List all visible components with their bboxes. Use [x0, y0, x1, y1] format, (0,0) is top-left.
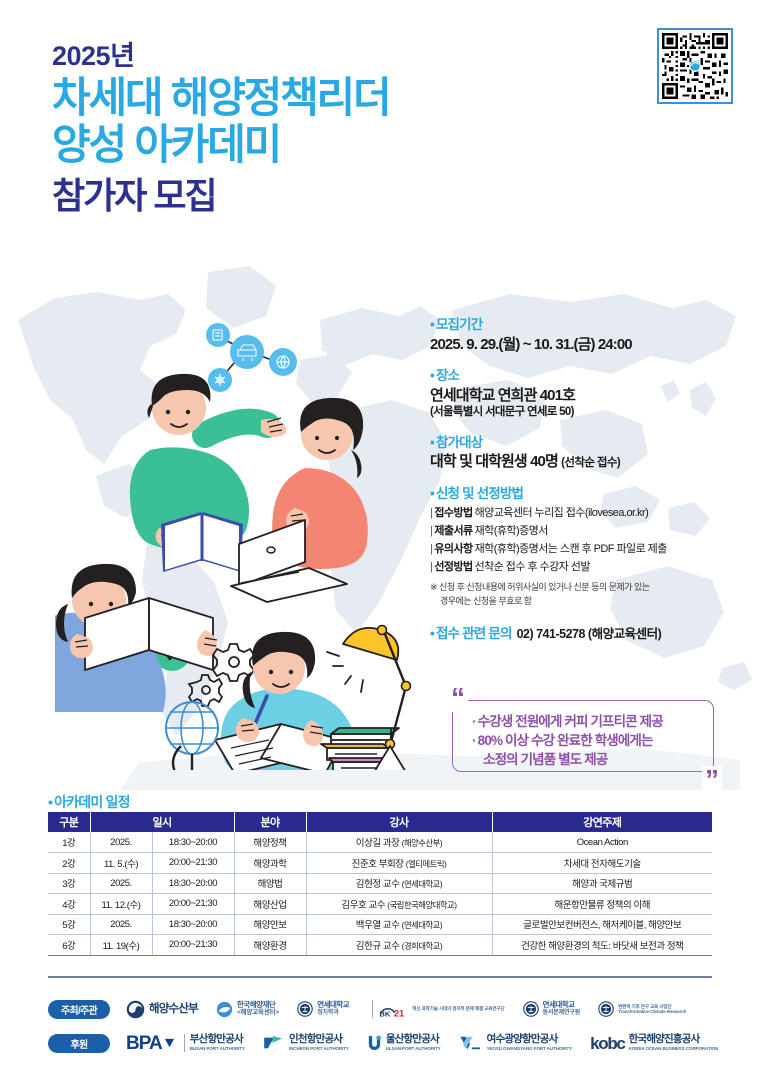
- place-address: (서울특별시 서대문구 연세로 50): [430, 405, 735, 421]
- col-header-field: 분야: [234, 812, 306, 832]
- contact-label: 접수 관련 문의: [430, 626, 512, 641]
- globe-icon: [166, 702, 218, 770]
- logo-bk21-sub: 혁신 과학기술 시대의 정치적 문제 해결 교육연구단: [412, 1006, 504, 1012]
- title-main-line1: 차세대 해양정책리더: [52, 74, 389, 121]
- cell-topic: 해양과 국제규범: [492, 873, 712, 894]
- period-label: 모집기간: [430, 316, 735, 334]
- cell-date: 2025.: [90, 873, 152, 894]
- apply-rows: |접수방법해양교육센터 누리집 접수(ilovesea.or.kr) |제출서류…: [430, 505, 735, 576]
- cell-date: 11. 19(수): [90, 935, 152, 956]
- logo-upa-sub: ULSAN PORT AUTHORITY: [386, 1046, 441, 1052]
- cell-topic: 해운항만물류 정책의 이해: [492, 894, 712, 915]
- cell-num: 5강: [48, 914, 90, 935]
- yonsei-seal-icon: [598, 1001, 614, 1017]
- cell-topic: 글로벌안보컨버전스, 해저케이블, 해양안보: [492, 914, 712, 935]
- logo-climate-research-sub: Transformative Climate Research: [618, 1009, 686, 1015]
- benefit-bullet: ·: [472, 733, 476, 748]
- logo-ipa-sub: INCHEON PORT AUTHORITY: [289, 1046, 349, 1052]
- cell-date: 2025.: [90, 832, 152, 853]
- benefits-lines: ·수강생 전원에게 커피 기프티콘 제공 ·80% 이상 수강 완료한 학생에게…: [472, 712, 722, 769]
- logo-yonsei-politics-sub: 정치학과: [317, 1010, 349, 1017]
- logo-bk21: BK 21 혁신 과학기술 시대의 정치적 문제 해결 교육연구단: [378, 1001, 504, 1018]
- cell-date: 11. 5.(수): [90, 853, 152, 874]
- benefit-line: ·80% 이상 수강 완료한 학생에게는: [472, 731, 722, 750]
- svg-text:21: 21: [394, 1008, 404, 1018]
- table-row: 2강 11. 5.(수) 20:00~21:30 해양과학 진준호 부회장 (엘…: [48, 853, 712, 874]
- logo-ipa-text: 인천항만공사 INCHEON PORT AUTHORITY: [289, 1034, 349, 1051]
- cell-time: 18:30~20:00: [152, 832, 234, 853]
- page-title: 2025년 차세대 해양정책리더 양성 아카데미 참가자 모집: [52, 42, 389, 218]
- cell-field: 해양환경: [234, 935, 306, 956]
- cell-time: 18:30~20:00: [152, 873, 234, 894]
- logo-yonsei-politics: 연세대학교 정치학과: [297, 1001, 349, 1017]
- ygpa-icon: [459, 1035, 483, 1051]
- audience-suffix: (선착순 접수): [561, 457, 620, 469]
- logo-yonsei-eastwest-sub: 동서문제연구원: [543, 1010, 581, 1017]
- lecturer-name: 이상길 과장: [356, 838, 400, 849]
- apply-value: 해양교육센터 누리집 접수(ilovesea.or.kr): [475, 507, 649, 519]
- info-contact: 접수 관련 문의02) 741-5278 (해양교육센터): [430, 622, 735, 643]
- logo-ygpa: 여수광양항만공사 YEOSU GWANGYANG PORT AUTHORITY: [459, 1034, 573, 1051]
- korea-gov-taegeuk-icon: [126, 1000, 145, 1019]
- col-header-num: 구분: [48, 812, 90, 832]
- logo-mof-text: 해양수산부: [149, 1003, 198, 1016]
- apply-key: 유의사항: [434, 543, 472, 555]
- logo-bpa-sub: BUSAN PORT AUTHORITY: [190, 1046, 245, 1052]
- yonsei-seal-icon: [523, 1001, 539, 1017]
- benefit-line: 소정의 기념품 별도 제공: [472, 750, 722, 769]
- apply-note-line1: ※ 신청 후 신청내용에 허위사실이 있거나 신분 등의 문제가 있는: [430, 582, 650, 592]
- footer-divider-small: [184, 1034, 185, 1052]
- logo-kmf-text: 한국해양재단 <해양교육센터>: [237, 1001, 279, 1017]
- info-panel: 모집기간 2025. 9. 29.(월) ~ 10. 31.(금) 24:00 …: [430, 316, 735, 643]
- info-audience: 참가대상 대학 및 대학원생 40명 (선착순 접수): [430, 434, 735, 472]
- logo-bk21-text: 혁신 과학기술 시대의 정치적 문제 해결 교육연구단: [412, 1006, 504, 1012]
- upa-icon: [367, 1035, 382, 1052]
- place-label: 장소: [430, 367, 735, 385]
- cell-time: 20:00~21:30: [152, 935, 234, 956]
- col-header-datetime: 일시: [90, 812, 234, 832]
- schedule-table: 구분 일시 분야 강사 강연주제 1강 2025. 18:30~20:00 해양…: [48, 812, 712, 956]
- cell-num: 4강: [48, 894, 90, 915]
- col-header-topic: 강연주제: [492, 812, 712, 832]
- lecturer-org: (경희대학교): [402, 941, 443, 951]
- logo-kmf-sub: <해양교육센터>: [237, 1009, 279, 1017]
- cell-lecturer: 김우호 교수 (국립한국해양대학교): [306, 894, 492, 915]
- logo-upa-text: 울산항만공사 ULSAN PORT AUTHORITY: [386, 1034, 441, 1051]
- sponsor-badge: 후원: [48, 1034, 110, 1053]
- lecturer-name: 김한규 교수: [356, 941, 400, 952]
- table-row: 5강 2025. 18:30~20:00 해양안보 백우열 교수 (연세대학교)…: [48, 914, 712, 935]
- yonsei-seal-icon: [297, 1001, 313, 1017]
- logo-yonsei-politics-name: 연세대학교: [317, 1001, 349, 1009]
- cell-num: 1강: [48, 832, 90, 853]
- contact-value: 02) 741-5278 (해양교육센터): [517, 627, 662, 641]
- benefit-text: 소정의 기념품 별도 제공: [483, 752, 607, 767]
- lecturer-org: (해양수산부): [402, 838, 443, 848]
- cell-topic: 건강한 해양환경의 척도: 바닷새 보전과 정책: [492, 935, 712, 956]
- cell-lecturer: 백우열 교수 (연세대학교): [306, 914, 492, 935]
- bpa-wordmark: BPA: [126, 1034, 162, 1053]
- logo-ipa-name: 인천항만공사: [289, 1034, 349, 1046]
- cell-time: 20:00~21:30: [152, 894, 234, 915]
- logo-kobc-name: 한국해양진흥공사: [629, 1034, 719, 1046]
- logo-upa: 울산항만공사 ULSAN PORT AUTHORITY: [367, 1034, 441, 1051]
- logo-ygpa-sub: YEOSU GWANGYANG PORT AUTHORITY: [487, 1046, 573, 1052]
- schedule-table-body: 1강 2025. 18:30~20:00 해양정책 이상길 과장 (해양수산부)…: [48, 832, 712, 955]
- footer-host-row: 주최/주관 해양수산부 한국해양재단 <해양교육센터>: [48, 992, 728, 1026]
- apply-value: 선착순 접수 후 수강자 선발: [475, 561, 590, 573]
- cell-lecturer: 진준호 부회장 (엘티메트릭): [306, 853, 492, 874]
- logo-mof-name: 해양수산부: [149, 1003, 198, 1016]
- quote-close-mark: ”: [702, 766, 722, 794]
- logo-kmf: 한국해양재단 <해양교육센터>: [216, 1001, 279, 1018]
- audience-value: 대학 및 대학원생 40명: [430, 453, 558, 470]
- title-year: 2025년: [52, 42, 389, 70]
- benefit-text: 수강생 전원에게 커피 기프티콘 제공: [478, 714, 663, 729]
- col-header-lecturer: 강사: [306, 812, 492, 832]
- apply-key: 접수방법: [434, 507, 472, 519]
- logo-upa-name: 울산항만공사: [386, 1034, 441, 1046]
- apply-value: 재학(휴학)증명서는 스캔 후 PDF 파일로 제출: [475, 543, 667, 555]
- period-value: 2025. 9. 29.(월) ~ 10. 31.(금) 24:00: [430, 335, 735, 355]
- cell-lecturer: 김한규 교수 (경희대학교): [306, 935, 492, 956]
- table-row: 3강 2025. 18:30~20:00 해양법 김현정 교수 (연세대학교) …: [48, 873, 712, 894]
- title-subtitle: 참가자 모집: [52, 174, 389, 217]
- logo-ygpa-name: 여수광양항만공사: [487, 1034, 573, 1046]
- logo-kobc-text: 한국해양진흥공사 KOREA OCEAN BUSINESS CORPORATIO…: [629, 1034, 719, 1051]
- lecturer-org: (엘티메트릭): [406, 859, 447, 869]
- cell-topic: Ocean Action: [492, 832, 712, 853]
- lecturer-name: 진준호 부회장: [352, 859, 404, 870]
- apply-row: |제출서류재학(휴학)증명서: [430, 523, 735, 541]
- table-row: 6강 11. 19(수) 20:00~21:30 해양환경 김한규 교수 (경희…: [48, 935, 712, 956]
- apply-value: 재학(휴학)증명서: [475, 525, 548, 537]
- host-badge: 주최/주관: [48, 1000, 110, 1019]
- audience-label: 참가대상: [430, 434, 735, 452]
- title-main-line2: 양성 아카데미: [52, 121, 389, 168]
- cell-field: 해양정책: [234, 832, 306, 853]
- info-apply: 신청 및 선정방법 |접수방법해양교육센터 누리집 접수(ilovesea.or…: [430, 485, 735, 609]
- cell-num: 2강: [48, 853, 90, 874]
- kobc-wordmark: kobc: [590, 1035, 624, 1052]
- apply-row: |선정방법선착순 접수 후 수강자 선발: [430, 559, 735, 577]
- benefit-line: ·수강생 전원에게 커피 기프티콘 제공: [472, 712, 722, 731]
- footer-divider: [48, 976, 712, 978]
- logo-bpa-name: 부산항만공사: [190, 1034, 245, 1046]
- footer-sponsor-row: 후원 BPA 부산항만공사 BUSAN PORT AUTHORITY: [48, 1026, 728, 1060]
- kmf-wave-icon: [216, 1001, 233, 1018]
- lecturer-org: (연세대학교): [402, 920, 443, 930]
- benefit-text: 80% 이상 수강 완료한 학생에게는: [478, 733, 653, 748]
- qr-code-icon: [662, 33, 728, 99]
- logo-kobc: kobc 한국해양진흥공사 KOREA OCEAN BUSINESS CORPO…: [590, 1034, 718, 1051]
- table-row: 4강 11. 12.(수) 20:00~21:30 해양산업 김우호 교수 (국…: [48, 894, 712, 915]
- ipa-arrow-icon: [263, 1035, 285, 1051]
- footer-divider-small: [372, 1000, 373, 1018]
- logo-climate-research: 변환적 기후 연구 교육 사업단 Transformative Climate …: [598, 1001, 686, 1017]
- table-row: 1강 2025. 18:30~20:00 해양정책 이상길 과장 (해양수산부)…: [48, 832, 712, 853]
- place-value: 연세대학교 연희관 401호: [430, 386, 735, 406]
- lecturer-org: (국립한국해양대학교): [387, 900, 456, 910]
- logo-ipa: 인천항만공사 INCHEON PORT AUTHORITY: [263, 1034, 349, 1051]
- cell-topic: 차세대 전자해도기술: [492, 853, 712, 874]
- cell-field: 해양안보: [234, 914, 306, 935]
- apply-bar-icon: |: [430, 561, 432, 573]
- apply-key: 선정방법: [434, 561, 472, 573]
- logo-climate-research-text: 변환적 기후 연구 교육 사업단 Transformative Climate …: [618, 1004, 686, 1015]
- cell-field: 해양법: [234, 873, 306, 894]
- apply-note: ※ 신청 후 신청내용에 허위사실이 있거나 신분 등의 문제가 있는 경우에는…: [430, 581, 735, 608]
- logo-yonsei-eastwest-text: 연세대학교 동서문제연구원: [543, 1001, 581, 1017]
- apply-bar-icon: |: [430, 507, 432, 519]
- apply-bar-icon: |: [430, 543, 432, 555]
- lecturer-name: 김우호 교수: [341, 900, 385, 911]
- benefits-quote-box: “ ” ·수강생 전원에게 커피 기프티콘 제공 ·80% 이상 수강 완료한 …: [432, 690, 728, 782]
- cell-num: 6강: [48, 935, 90, 956]
- schedule-table-head: 구분 일시 분야 강사 강연주제: [48, 812, 712, 832]
- cell-date: 2025.: [90, 914, 152, 935]
- lecturer-name: 백우열 교수: [356, 920, 400, 931]
- logo-yonsei-politics-text: 연세대학교 정치학과: [317, 1001, 349, 1017]
- cell-date: 11. 12.(수): [90, 894, 152, 915]
- info-period: 모집기간 2025. 9. 29.(월) ~ 10. 31.(금) 24:00: [430, 316, 735, 354]
- logo-kobc-sub: KOREA OCEAN BUSINESS CORPORATION: [629, 1046, 719, 1052]
- footer-logos: 주최/주관 해양수산부 한국해양재단 <해양교육센터>: [48, 992, 728, 1060]
- logo-bpa-text: 부산항만공사 BUSAN PORT AUTHORITY: [190, 1034, 245, 1051]
- people-studying-illustration: [55, 300, 445, 770]
- apply-label: 신청 및 선정방법: [430, 485, 735, 503]
- apply-key: 제출서류: [434, 525, 472, 537]
- cell-field: 해양산업: [234, 894, 306, 915]
- lecturer-name: 김현정 교수: [356, 879, 400, 890]
- logo-mof: 해양수산부: [126, 1000, 198, 1019]
- logo-yonsei-eastwest-name: 연세대학교: [543, 1001, 581, 1009]
- quote-open-mark: “: [448, 684, 468, 712]
- cell-time: 20:00~21:30: [152, 853, 234, 874]
- apply-bar-icon: |: [430, 525, 432, 537]
- table-header-row: 구분 일시 분야 강사 강연주제: [48, 812, 712, 832]
- apply-row: |유의사항재학(휴학)증명서는 스캔 후 PDF 파일로 제출: [430, 541, 735, 559]
- schedule-heading: 아카데미 일정: [48, 792, 130, 812]
- qr-code[interactable]: [657, 28, 733, 104]
- bk21-icon: BK 21: [378, 1001, 408, 1018]
- cell-time: 18:30~20:00: [152, 914, 234, 935]
- logo-bpa: BPA 부산항만공사 BUSAN PORT AUTHORITY: [126, 1034, 245, 1053]
- bpa-icon: [164, 1038, 175, 1049]
- audience-value-wrap: 대학 및 대학원생 40명 (선착순 접수): [430, 452, 735, 472]
- cell-lecturer: 이상길 과장 (해양수산부): [306, 832, 492, 853]
- logo-ygpa-text: 여수광양항만공사 YEOSU GWANGYANG PORT AUTHORITY: [487, 1034, 573, 1051]
- cell-num: 3강: [48, 873, 90, 894]
- logo-yonsei-eastwest: 연세대학교 동서문제연구원: [523, 1001, 581, 1017]
- cell-field: 해양과학: [234, 853, 306, 874]
- cell-lecturer: 김현정 교수 (연세대학교): [306, 873, 492, 894]
- benefit-bullet: ·: [472, 714, 476, 729]
- svg-text:BK: BK: [380, 1009, 392, 1018]
- lecturer-org: (연세대학교): [402, 879, 443, 889]
- apply-note-line2: 경우에는 신청을 무효로 함: [430, 595, 735, 609]
- apply-row: |접수방법해양교육센터 누리집 접수(ilovesea.or.kr): [430, 505, 735, 523]
- info-place: 장소 연세대학교 연희관 401호 (서울특별시 서대문구 연세로 50): [430, 367, 735, 421]
- poster-canvas: 2025년 차세대 해양정책리더 양성 아카데미 참가자 모집: [0, 0, 759, 1079]
